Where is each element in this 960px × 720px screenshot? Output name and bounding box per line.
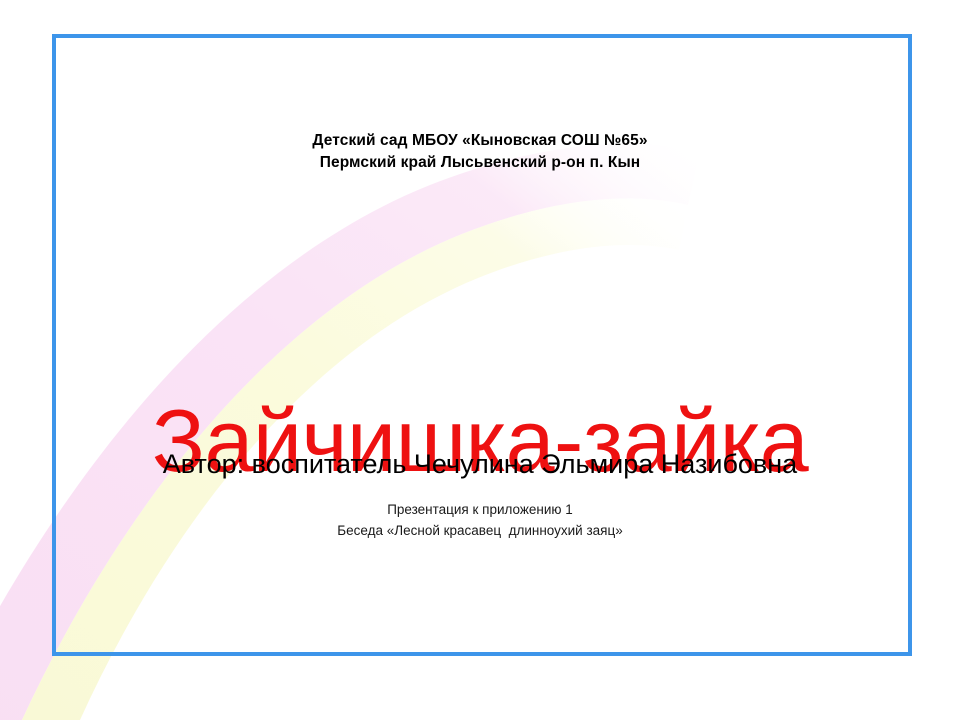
author-credit: Автор: воспитатель Чечулина Эльмира Нази… (0, 448, 960, 480)
organization-line-2: Пермский край Лысьвенский р-он п. Кын (0, 152, 960, 174)
subtitle-block: Презентация к приложению 1 Беседа «Лесно… (0, 499, 960, 541)
organization-block: Детский сад МБОУ «Кыновская СОШ №65» Пер… (0, 130, 960, 174)
organization-line-1: Детский сад МБОУ «Кыновская СОШ №65» (0, 130, 960, 152)
slide-content: Детский сад МБОУ «Кыновская СОШ №65» Пер… (0, 0, 960, 720)
subtitle-line-2: Беседа «Лесной красавец длинноухий заяц» (0, 520, 960, 541)
presentation-slide: Детский сад МБОУ «Кыновская СОШ №65» Пер… (0, 0, 960, 720)
subtitle-line-1: Презентация к приложению 1 (0, 499, 960, 520)
